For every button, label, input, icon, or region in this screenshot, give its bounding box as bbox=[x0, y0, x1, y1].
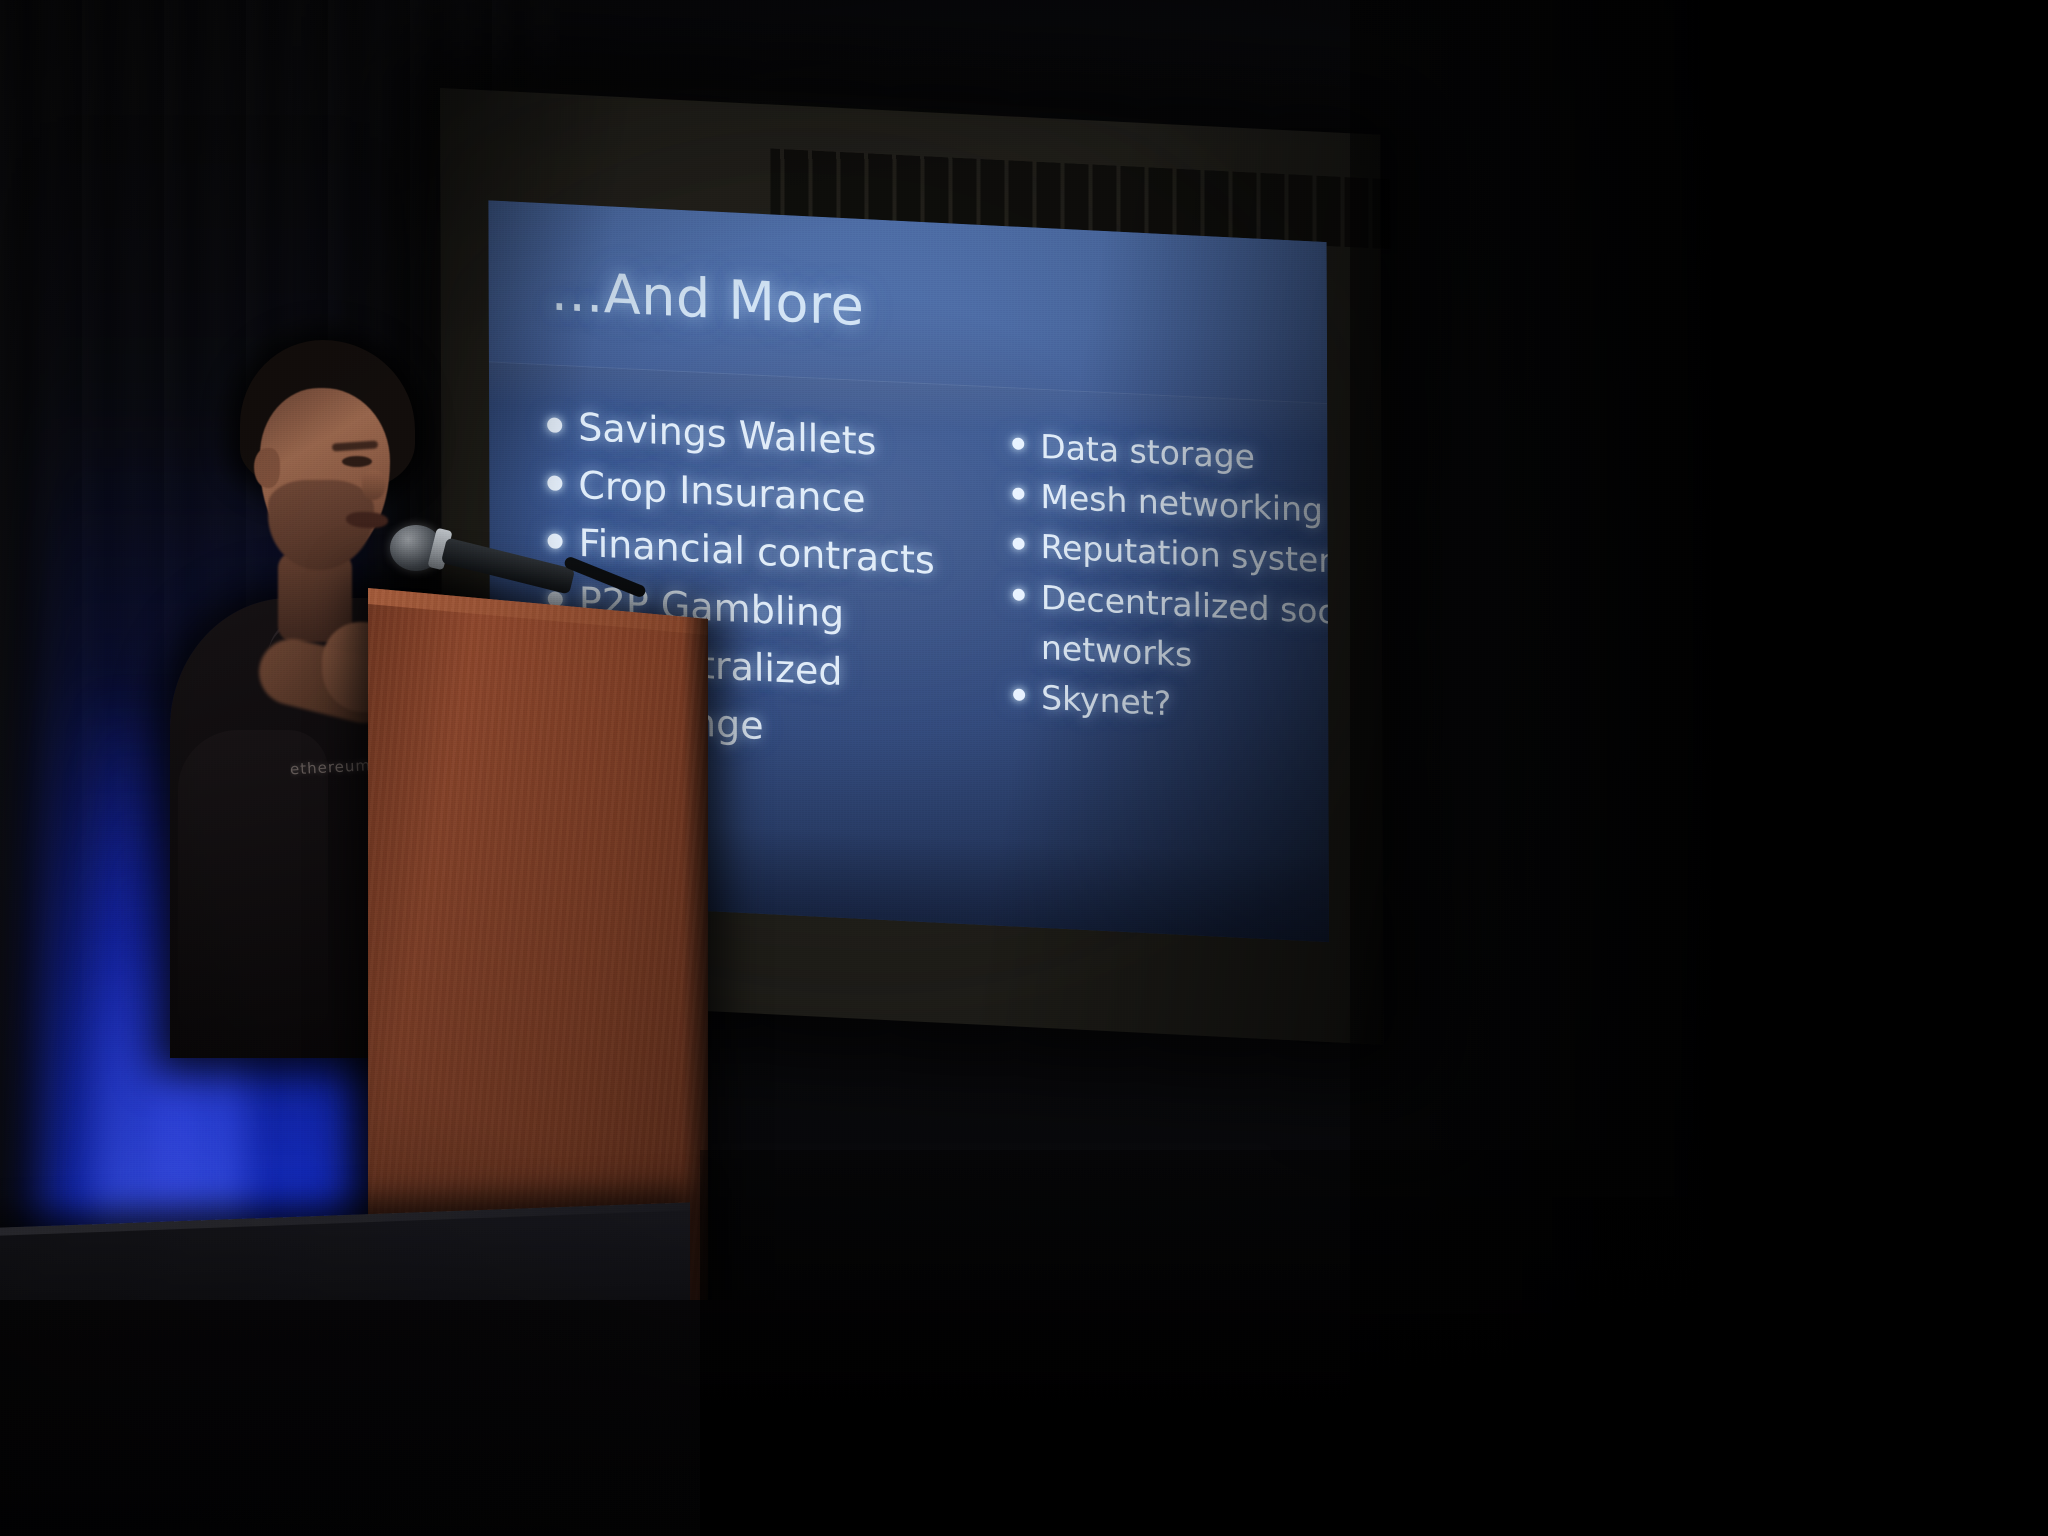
bullet-label: Data storage bbox=[1040, 424, 1255, 481]
bullet-column-right: Data storage Mesh networking Reputation … bbox=[1002, 422, 1329, 789]
bullet-label: Mesh networking bbox=[1040, 474, 1323, 534]
bullet-label: Skynet? bbox=[1041, 675, 1171, 728]
photo-canvas: ...And More Savings Wallets Crop Insuran… bbox=[0, 0, 2048, 1536]
speaker-ear bbox=[254, 448, 280, 488]
bullet-list-right: Data storage Mesh networking Reputation … bbox=[1012, 422, 1329, 738]
bullet-dot-icon bbox=[1012, 437, 1024, 450]
bullet-dot-icon bbox=[1013, 688, 1025, 701]
dark-bottom-shadow bbox=[700, 1150, 2048, 1536]
list-item: Skynet? bbox=[1013, 673, 1329, 738]
speaker-eye bbox=[342, 456, 372, 467]
microphone-body bbox=[441, 537, 575, 594]
bullet-dot-icon bbox=[1013, 538, 1025, 551]
bullet-label: networks bbox=[1041, 625, 1192, 679]
bullet-dot-icon bbox=[1012, 488, 1024, 501]
bullet-dot-icon bbox=[1013, 588, 1025, 601]
